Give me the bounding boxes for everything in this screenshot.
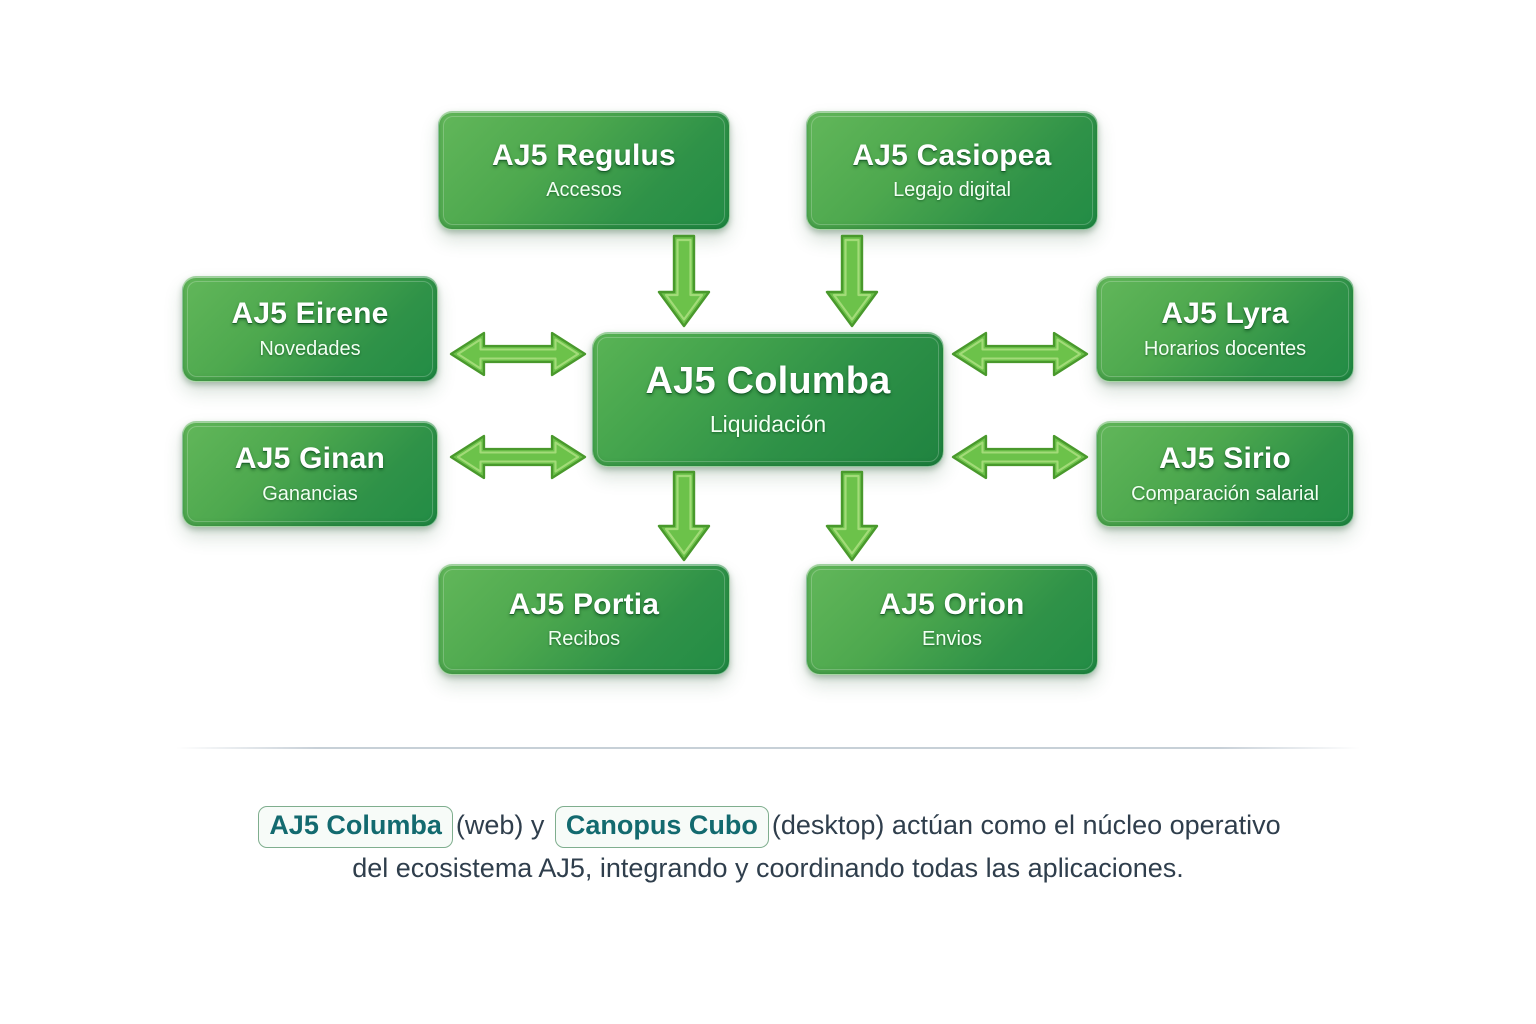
node-casiopea[interactable]: AJ5 Casiopea Legajo digital	[806, 111, 1098, 230]
node-sirio-title: AJ5 Sirio	[1159, 443, 1291, 475]
node-columba-center[interactable]: AJ5 Columba Liquidación	[592, 332, 944, 467]
badge-aj5-columba[interactable]: AJ5 Columba	[258, 806, 453, 848]
node-eirene-title: AJ5 Eirene	[231, 298, 388, 330]
node-eirene-subtitle: Novedades	[259, 338, 360, 360]
caption-line-2: del ecosistema AJ5, integrando y coordin…	[0, 848, 1536, 889]
node-orion-title: AJ5 Orion	[879, 589, 1024, 621]
node-portia[interactable]: AJ5 Portia Recibos	[438, 564, 730, 675]
node-sirio-subtitle: Comparación salarial	[1131, 483, 1319, 505]
caption-post: (desktop) actúan como el núcleo operativ…	[772, 810, 1281, 840]
arrow-casiopea-to-columba	[822, 234, 882, 330]
caption: AJ5 Columba(web) y Canopus Cubo(desktop)…	[0, 805, 1536, 889]
badge-canopus-cubo[interactable]: Canopus Cubo	[555, 806, 769, 848]
node-orion[interactable]: AJ5 Orion Envios	[806, 564, 1098, 675]
node-eirene[interactable]: AJ5 Eirene Novedades	[182, 276, 438, 382]
node-sirio[interactable]: AJ5 Sirio Comparación salarial	[1096, 421, 1354, 527]
node-lyra-subtitle: Horarios docentes	[1144, 338, 1306, 360]
arrow-regulus-to-columba	[654, 234, 714, 330]
node-lyra[interactable]: AJ5 Lyra Horarios docentes	[1096, 276, 1354, 382]
arrow-ginan-columba	[448, 430, 588, 484]
node-portia-subtitle: Recibos	[548, 628, 620, 650]
arrow-columba-to-orion	[822, 470, 882, 564]
arrow-columba-to-portia	[654, 470, 714, 564]
caption-mid-1: (web) y	[456, 810, 545, 840]
node-orion-subtitle: Envios	[922, 628, 982, 650]
node-lyra-title: AJ5 Lyra	[1161, 298, 1288, 330]
caption-line-1: AJ5 Columba(web) y Canopus Cubo(desktop)…	[0, 805, 1536, 848]
node-ginan-subtitle: Ganancias	[262, 483, 358, 505]
section-divider	[176, 747, 1360, 749]
arrow-eirene-columba	[448, 327, 588, 381]
node-casiopea-title: AJ5 Casiopea	[852, 140, 1051, 172]
node-portia-title: AJ5 Portia	[509, 589, 659, 621]
arrow-columba-lyra	[950, 327, 1090, 381]
node-ginan-title: AJ5 Ginan	[235, 443, 385, 475]
node-ginan[interactable]: AJ5 Ginan Ganancias	[182, 421, 438, 527]
node-regulus[interactable]: AJ5 Regulus Accesos	[438, 111, 730, 230]
node-columba-title: AJ5 Columba	[645, 362, 890, 402]
arrow-columba-sirio	[950, 430, 1090, 484]
node-regulus-subtitle: Accesos	[546, 179, 622, 201]
node-regulus-title: AJ5 Regulus	[492, 140, 676, 172]
node-casiopea-subtitle: Legajo digital	[893, 179, 1011, 201]
node-columba-subtitle: Liquidación	[710, 412, 826, 437]
diagram-canvas: AJ5 Regulus Accesos AJ5 Casiopea Legajo …	[0, 0, 1536, 1024]
